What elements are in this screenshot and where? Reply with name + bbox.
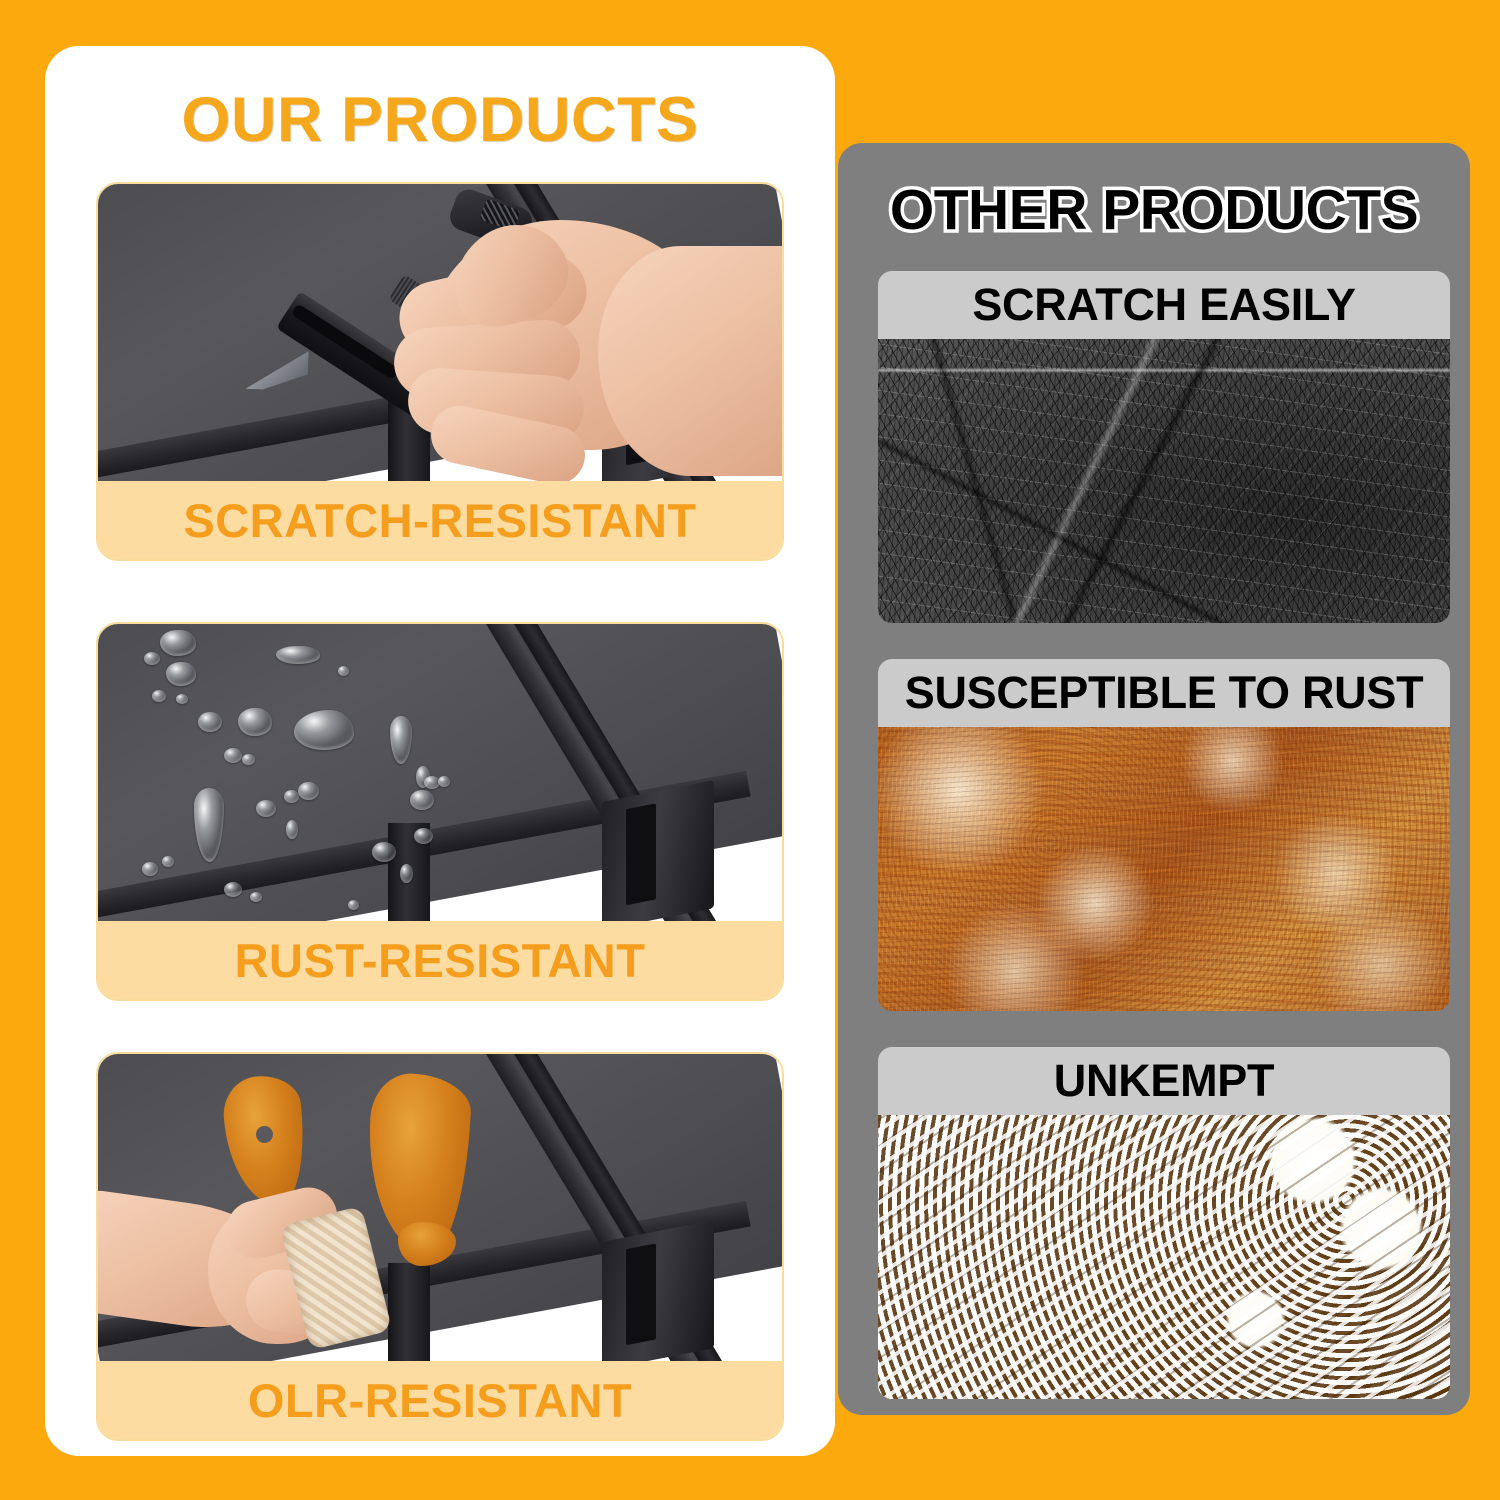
water-droplet [224,748,242,763]
card-label-oil-resistant: OLR-RESISTANT [98,1361,782,1439]
rusted-metal-surface-icon [878,727,1450,1011]
desk-illustration [98,624,782,921]
water-droplet [276,646,320,664]
card-label-scratch-resistant: SCRATCH-RESISTANT [98,481,782,559]
water-droplet [256,800,276,817]
other-card-scratch-easily[interactable]: SCRATCH EASILY [878,271,1450,623]
coffee-smear-surface-icon [878,1115,1450,1399]
card-label-rust-resistant: RUST-RESISTANT [98,921,782,999]
water-droplet [198,712,222,732]
photo-rust-resistant [98,624,782,921]
product-card-rust-resistant[interactable]: RUST-RESISTANT [96,622,784,1001]
product-card-oil-resistant[interactable]: OLR-RESISTANT [96,1052,784,1441]
page-title: OUR PRODUCTS [45,84,835,156]
water-droplet [410,790,434,810]
texture-coffee-smear [878,1115,1450,1399]
other-label-susceptible-to-rust: SUSCEPTIBLE TO RUST [878,659,1450,727]
desk-corner-bracket [602,780,714,921]
other-products-panel: OTHER PRODUCTS SCRATCH EASILY SUSCEPTIBL… [838,143,1470,1415]
other-card-unkempt[interactable]: UNKEMPT [878,1047,1450,1399]
other-label-unkempt: UNKEMPT [878,1047,1450,1115]
water-droplet [414,828,433,844]
photo-oil-resistant [98,1054,782,1361]
water-droplet [166,662,196,686]
desk-corner-bracket [602,1220,714,1361]
water-droplet [238,708,272,736]
other-products-title: OTHER PRODUCTS [838,177,1470,243]
photo-scratch-resistant [98,184,782,481]
product-card-scratch-resistant[interactable]: SCRATCH-RESISTANT [96,182,784,561]
oil-spill-left-hole [256,1126,273,1143]
water-droplet [372,842,396,862]
water-droplet [142,862,158,876]
other-card-susceptible-to-rust[interactable]: SUSCEPTIBLE TO RUST [878,659,1450,1011]
water-droplet [294,710,354,750]
water-droplet [400,864,413,883]
water-droplet [176,694,188,704]
other-label-scratch-easily: SCRATCH EASILY [878,271,1450,339]
water-droplet [438,776,450,787]
water-droplet [250,892,262,902]
texture-scratched-metal [878,339,1450,623]
water-droplet [338,666,349,676]
water-droplet [348,900,359,910]
water-droplet [152,690,166,702]
texture-rusted-metal [878,727,1450,1011]
water-droplet [162,856,174,867]
scratched-metal-surface-icon [878,339,1450,623]
water-droplet [284,790,299,803]
water-droplet [286,820,298,839]
desk-center-leg [388,1263,430,1361]
water-droplet [144,652,160,665]
water-droplet [160,630,196,656]
hand-wrist [598,246,782,476]
water-droplet [242,754,255,765]
water-droplet [298,782,319,800]
our-products-panel: OUR PRODUCTS [45,46,835,1456]
water-droplet [224,882,242,897]
